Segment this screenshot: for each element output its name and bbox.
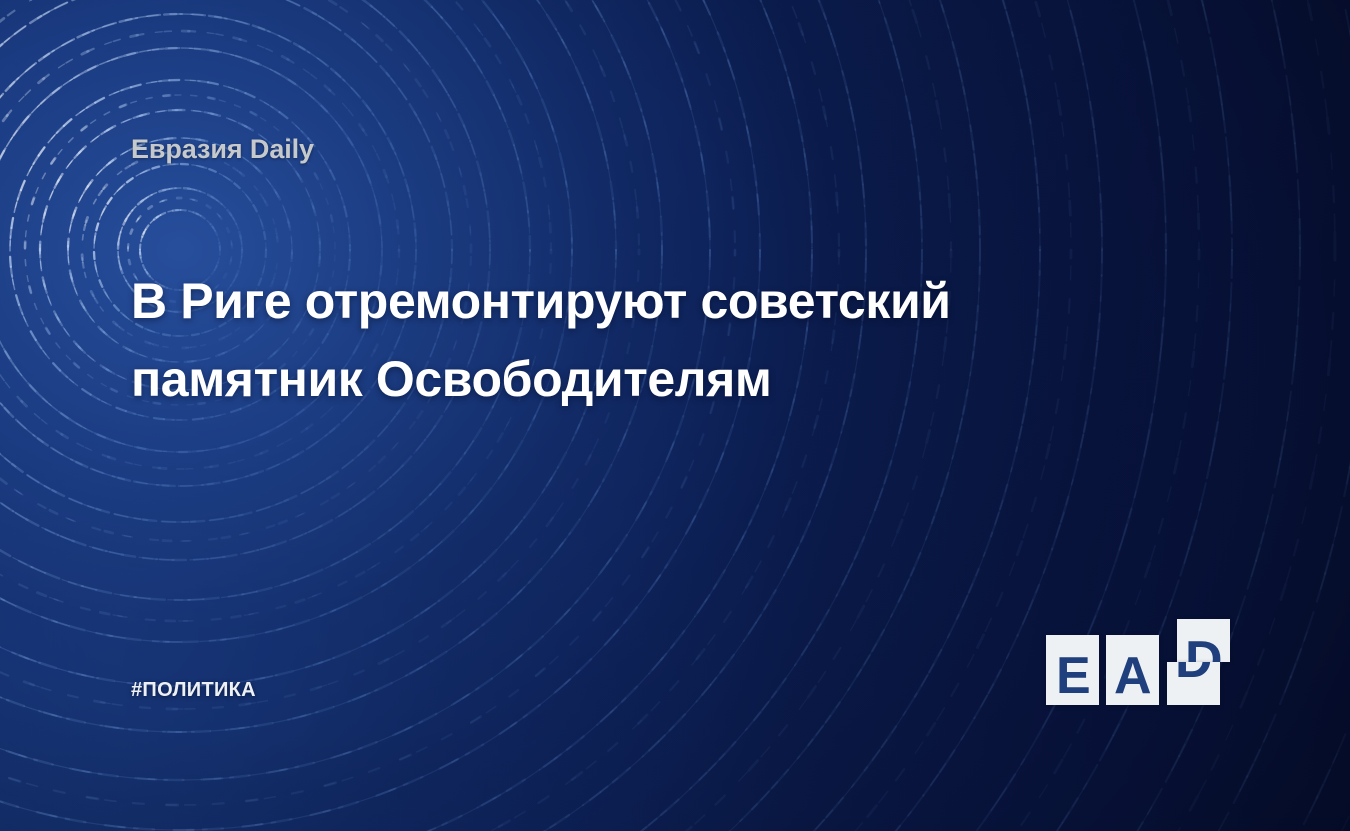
logo-letter-d-upper: D: [1185, 634, 1223, 662]
social-share-card: Евразия Daily В Риге отремонтируют совет…: [0, 0, 1350, 831]
logo-letter-d-top-half: D: [1177, 619, 1230, 662]
ead-logo: E A D D: [1046, 619, 1221, 705]
logo-letter-d-lower: D: [1175, 662, 1213, 686]
headline: В Риге отремонтируют советский памятник …: [131, 263, 1071, 418]
logo-letter-a: A: [1114, 650, 1152, 702]
brand-name: Евразия Daily: [131, 134, 314, 165]
logo-letter-d-bottom-half: D: [1167, 662, 1220, 705]
logo-letter-e: E: [1056, 650, 1091, 702]
card-content: Евразия Daily В Риге отремонтируют совет…: [0, 0, 1350, 831]
category-tag[interactable]: #ПОЛИТИКА: [131, 679, 256, 702]
